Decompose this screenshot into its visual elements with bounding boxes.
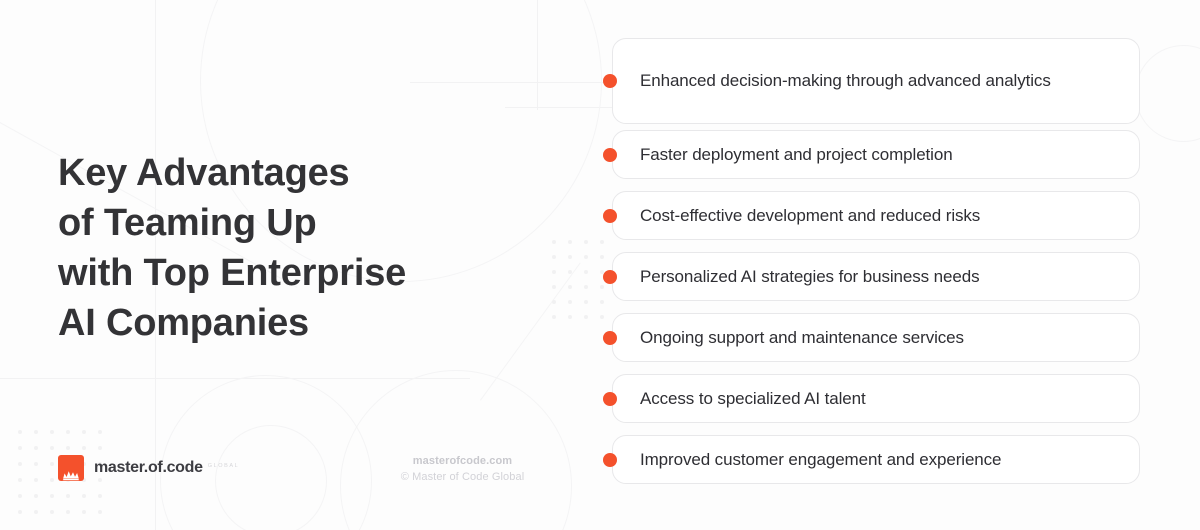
advantage-item[interactable]: Ongoing support and maintenance services xyxy=(603,313,1140,362)
bullet-icon xyxy=(603,209,617,223)
deco-dot-shape xyxy=(584,270,588,274)
deco-dot-shape xyxy=(584,255,588,259)
footer: masterofcode.com © Master of Code Global xyxy=(375,453,550,485)
page-title: Key Advantages of Teaming Up with Top En… xyxy=(58,148,528,348)
bullet-icon xyxy=(603,148,617,162)
advantage-label: Personalized AI strategies for business … xyxy=(613,265,997,289)
advantage-label: Improved customer engagement and experie… xyxy=(613,448,1019,472)
footer-website[interactable]: masterofcode.com xyxy=(375,453,550,469)
deco-dot xyxy=(578,309,594,324)
deco-dot-shape xyxy=(584,285,588,289)
advantages-list: Enhanced decision-making through advance… xyxy=(603,0,1163,530)
advantage-label: Ongoing support and maintenance services xyxy=(613,326,982,350)
bullet-icon xyxy=(603,453,617,467)
bullet-icon xyxy=(603,74,617,88)
logo-suffix: global xyxy=(208,464,240,472)
advantage-item[interactable]: Improved customer engagement and experie… xyxy=(603,435,1140,484)
bullet-icon xyxy=(603,392,617,406)
advantage-card[interactable]: Enhanced decision-making through advance… xyxy=(612,38,1140,124)
advantage-card[interactable]: Cost-effective development and reduced r… xyxy=(612,191,1140,240)
deco-dot xyxy=(578,279,594,294)
deco-dot-shape xyxy=(584,315,588,319)
deco-dot xyxy=(578,234,594,249)
advantage-item[interactable]: Personalized AI strategies for business … xyxy=(603,252,1140,301)
crown-mark-icon xyxy=(58,455,84,481)
brand-logo[interactable]: master.of.code global xyxy=(58,455,239,481)
bullet-icon xyxy=(603,270,617,284)
deco-dot-shape xyxy=(584,240,588,244)
advantage-card[interactable]: Improved customer engagement and experie… xyxy=(612,435,1140,484)
logo-wordmark: master.of.code xyxy=(94,460,203,476)
advantage-item[interactable]: Faster deployment and project completion xyxy=(603,130,1140,179)
advantage-label: Faster deployment and project completion xyxy=(613,143,971,167)
advantage-label: Enhanced decision-making through advance… xyxy=(613,69,1069,93)
slide-canvas: Key Advantages of Teaming Up with Top En… xyxy=(0,0,1200,530)
advantage-card[interactable]: Ongoing support and maintenance services xyxy=(612,313,1140,362)
advantage-item[interactable]: Cost-effective development and reduced r… xyxy=(603,191,1140,240)
bullet-icon xyxy=(603,331,617,345)
advantage-card[interactable]: Faster deployment and project completion xyxy=(612,130,1140,179)
advantage-card[interactable]: Personalized AI strategies for business … xyxy=(612,252,1140,301)
deco-dot xyxy=(578,294,594,309)
left-column: Key Advantages of Teaming Up with Top En… xyxy=(0,0,580,530)
advantage-card[interactable]: Access to specialized AI talent xyxy=(612,374,1140,423)
deco-dot xyxy=(578,249,594,264)
advantage-item[interactable]: Access to specialized AI talent xyxy=(603,374,1140,423)
advantage-label: Cost-effective development and reduced r… xyxy=(613,204,998,228)
advantage-item[interactable]: Enhanced decision-making through advance… xyxy=(603,38,1140,124)
deco-dot-shape xyxy=(584,300,588,304)
advantage-label: Access to specialized AI talent xyxy=(613,387,884,411)
footer-copyright: © Master of Code Global xyxy=(375,469,550,485)
deco-dot xyxy=(578,264,594,279)
